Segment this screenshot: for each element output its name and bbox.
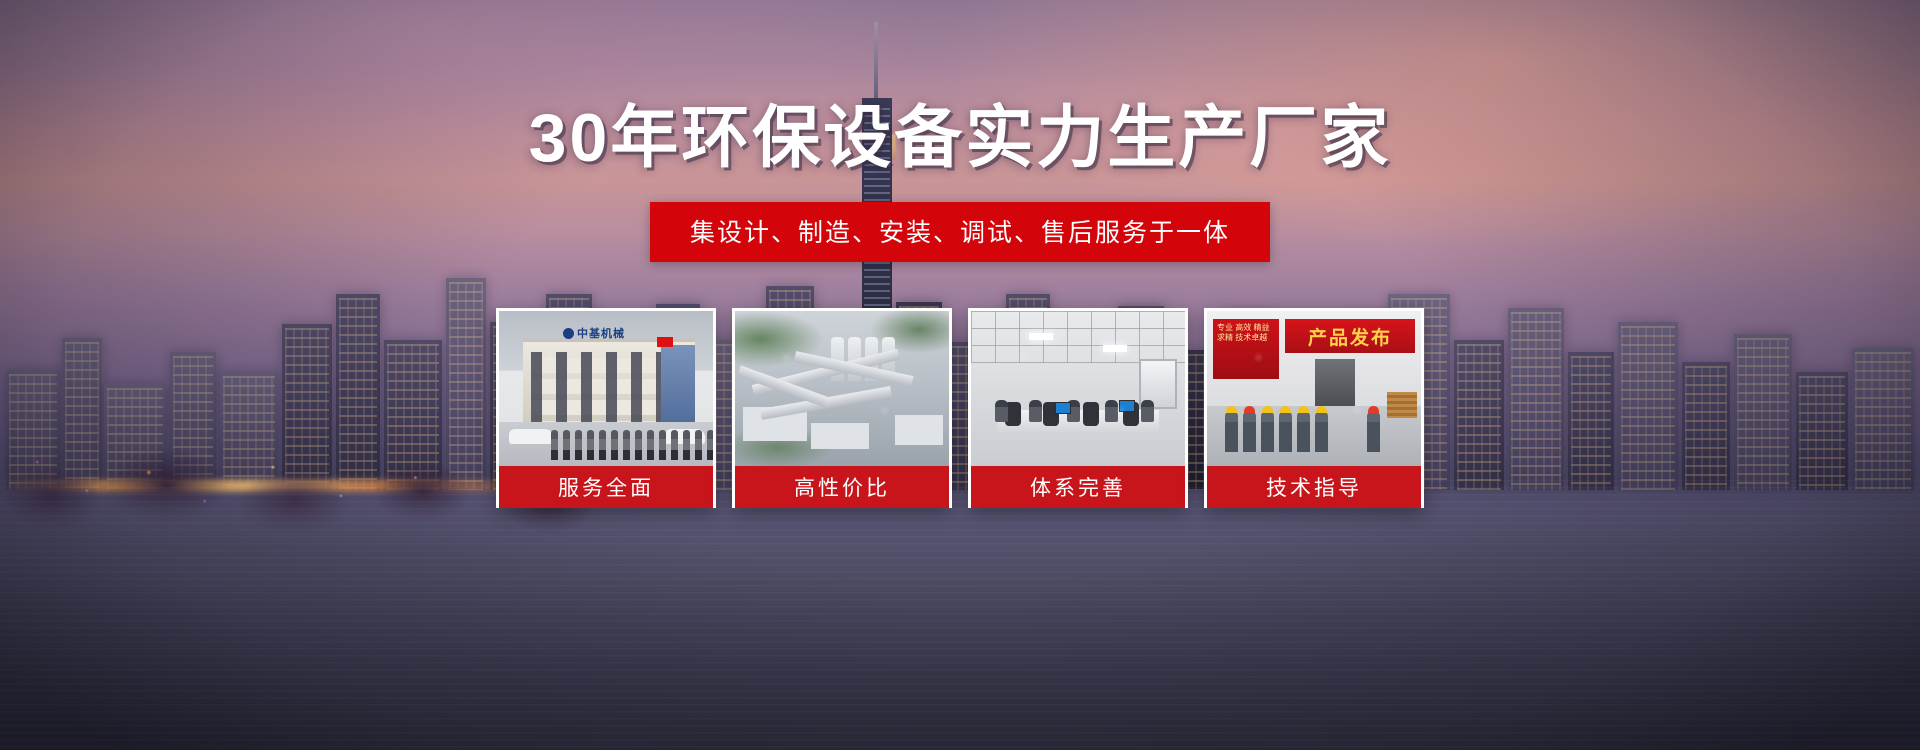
subtitle-banner: 集设计、制造、安装、调试、售后服务于一体 xyxy=(650,202,1270,262)
workshop-side-banner: 专业 高效 精益求精 技术卓越 xyxy=(1213,319,1279,379)
feature-card-list: 中基机械 服务全面 xyxy=(496,308,1424,508)
card-caption: 体系完善 xyxy=(971,466,1185,508)
hero-banner: 30年环保设备实力生产厂家 集设计、制造、安装、调试、售后服务于一体 中基机械 xyxy=(0,0,1920,750)
card-photo-office-building: 中基机械 xyxy=(499,311,713,466)
feature-card[interactable]: 体系完善 xyxy=(968,308,1188,508)
feature-card[interactable]: 高性价比 xyxy=(732,308,952,508)
flag-icon xyxy=(657,337,673,347)
card-caption: 技术指导 xyxy=(1207,466,1421,508)
company-sign-text: 中基机械 xyxy=(577,325,625,341)
feature-card[interactable]: 中基机械 服务全面 xyxy=(496,308,716,508)
workshop-wall-banner: 产品发布 xyxy=(1285,319,1415,353)
building-sign: 中基机械 xyxy=(563,325,659,341)
card-photo-industrial-plant xyxy=(735,311,949,466)
card-photo-workshop: 专业 高效 精益求精 技术卓越 产品发布 xyxy=(1207,311,1421,466)
company-logo-icon xyxy=(563,328,574,339)
feature-card[interactable]: 专业 高效 精益求精 技术卓越 产品发布 技术指导 xyxy=(1204,308,1424,508)
card-caption: 高性价比 xyxy=(735,466,949,508)
page-title: 30年环保设备实力生产厂家 xyxy=(529,104,1392,172)
card-photo-office-meeting xyxy=(971,311,1185,466)
card-caption: 服务全面 xyxy=(499,466,713,508)
